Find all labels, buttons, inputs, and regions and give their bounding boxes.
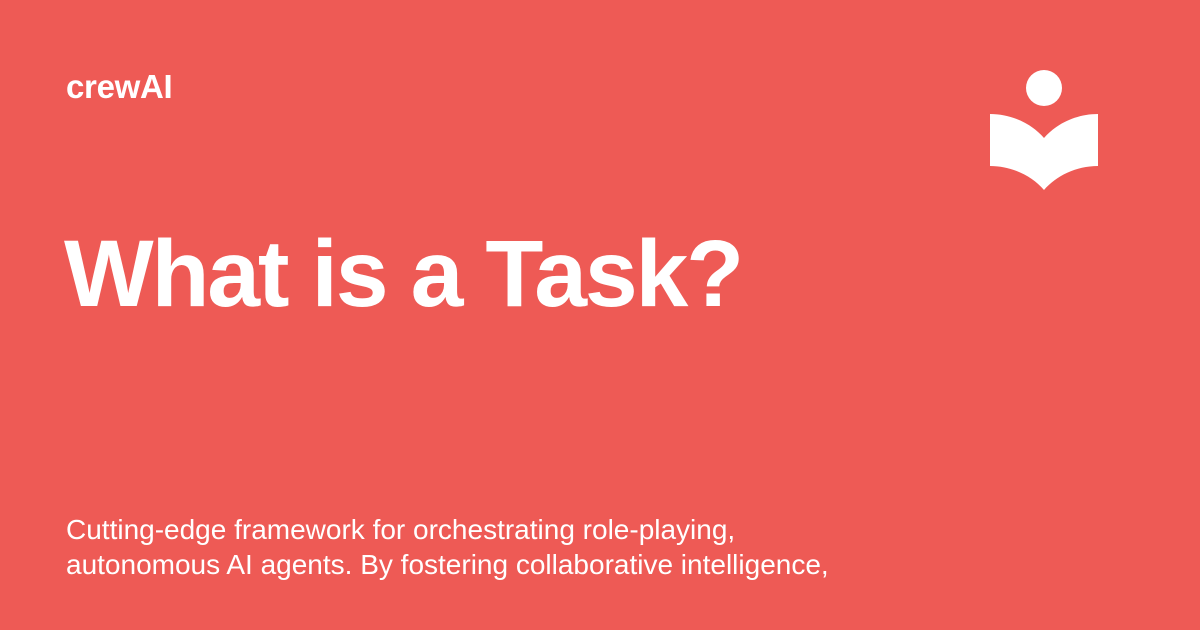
site-logo — [988, 66, 1100, 194]
book-left-page — [990, 114, 1044, 190]
open-graph-card: crewAI What is a Task? Cutting-edge fram… — [0, 0, 1200, 630]
page-title: What is a Task? — [64, 227, 884, 322]
page-description: Cutting-edge framework for orchestrating… — [66, 512, 906, 582]
open-book-reader-icon — [988, 66, 1100, 194]
book-right-page — [1044, 114, 1098, 190]
page-description-line-2: autonomous AI agents. By fostering colla… — [66, 547, 906, 582]
page-description-line-1: Cutting-edge framework for orchestrating… — [66, 512, 906, 547]
reader-head-circle — [1026, 70, 1062, 106]
brand-name: crewAI — [66, 70, 172, 103]
